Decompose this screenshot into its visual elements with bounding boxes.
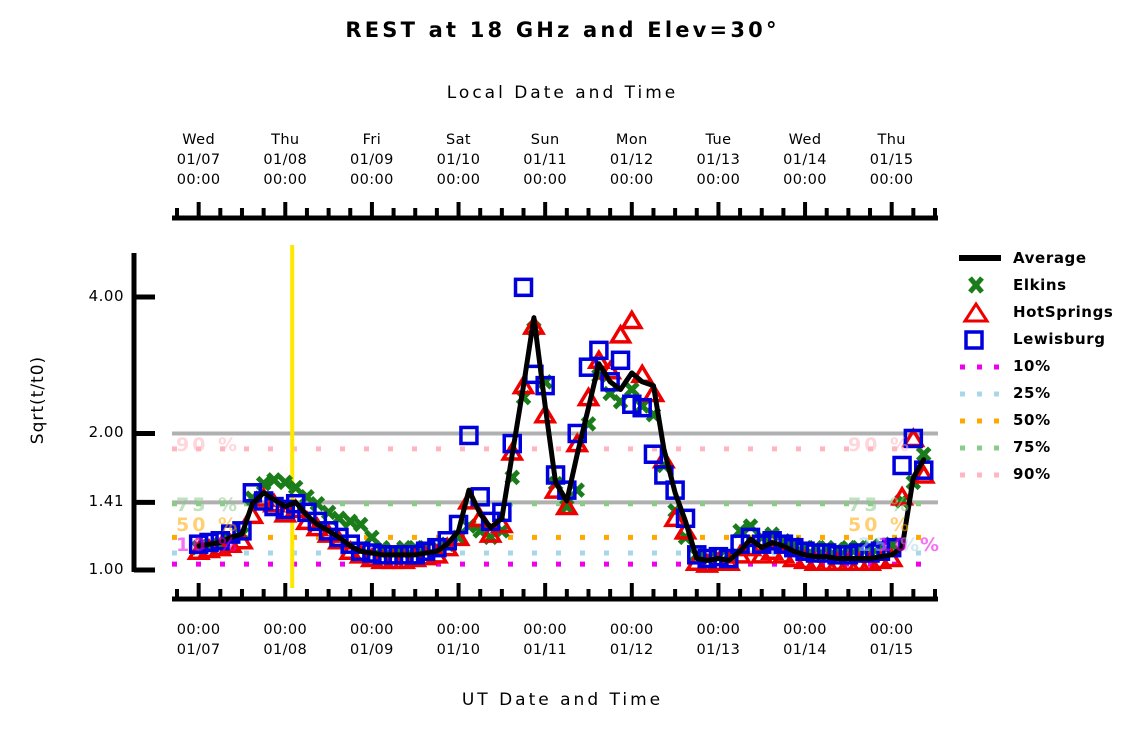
legend-symbol-dotted-line: [957, 409, 1005, 433]
legend-symbol-dotted-line: [957, 382, 1005, 406]
inplot-label-left-75pct: 75 %: [176, 494, 240, 516]
legend-label: Average: [1013, 249, 1087, 267]
series-average-line: [199, 318, 924, 561]
legend-symbol-solid-line: [957, 247, 1005, 271]
legend-label: Lewisburg: [1013, 330, 1106, 348]
series-hotsprings: [190, 312, 933, 571]
legend-label: HotSprings: [1013, 303, 1113, 321]
legend-label: Elkins: [1013, 276, 1067, 294]
legend-label: 10%: [1013, 357, 1051, 375]
legend-symbol-dotted-line: [957, 436, 1005, 460]
legend-symbol-triangle-marker: [957, 301, 1005, 325]
inplot-label-right-50pct: 50 %: [848, 514, 912, 536]
legend-label: 25%: [1013, 384, 1051, 402]
legend-symbol-cross-marker: [957, 274, 1005, 298]
legend-label: 75%: [1013, 438, 1051, 456]
inplot-label-right-10pct: 10 %: [878, 534, 942, 556]
data-point-marker: [613, 352, 629, 368]
legend-symbol-dotted-line: [957, 355, 1005, 379]
inplot-label-right-75pct: 75 %: [848, 494, 912, 516]
inplot-label-right-90pct: 90 %: [848, 434, 912, 456]
inplot-label-left-10pct: 10 %: [176, 534, 240, 556]
data-point-marker: [623, 312, 641, 327]
data-point-marker: [894, 457, 910, 473]
legend-label: 90%: [1013, 465, 1051, 483]
inplot-label-left-90pct: 90 %: [176, 434, 240, 456]
inplot-label-left-50pct: 50 %: [176, 514, 240, 536]
data-point-marker: [516, 279, 532, 295]
legend-symbol-square-marker: [957, 328, 1005, 352]
legend-label: 50%: [1013, 411, 1051, 429]
legend-symbol-dotted-line: [957, 463, 1005, 487]
